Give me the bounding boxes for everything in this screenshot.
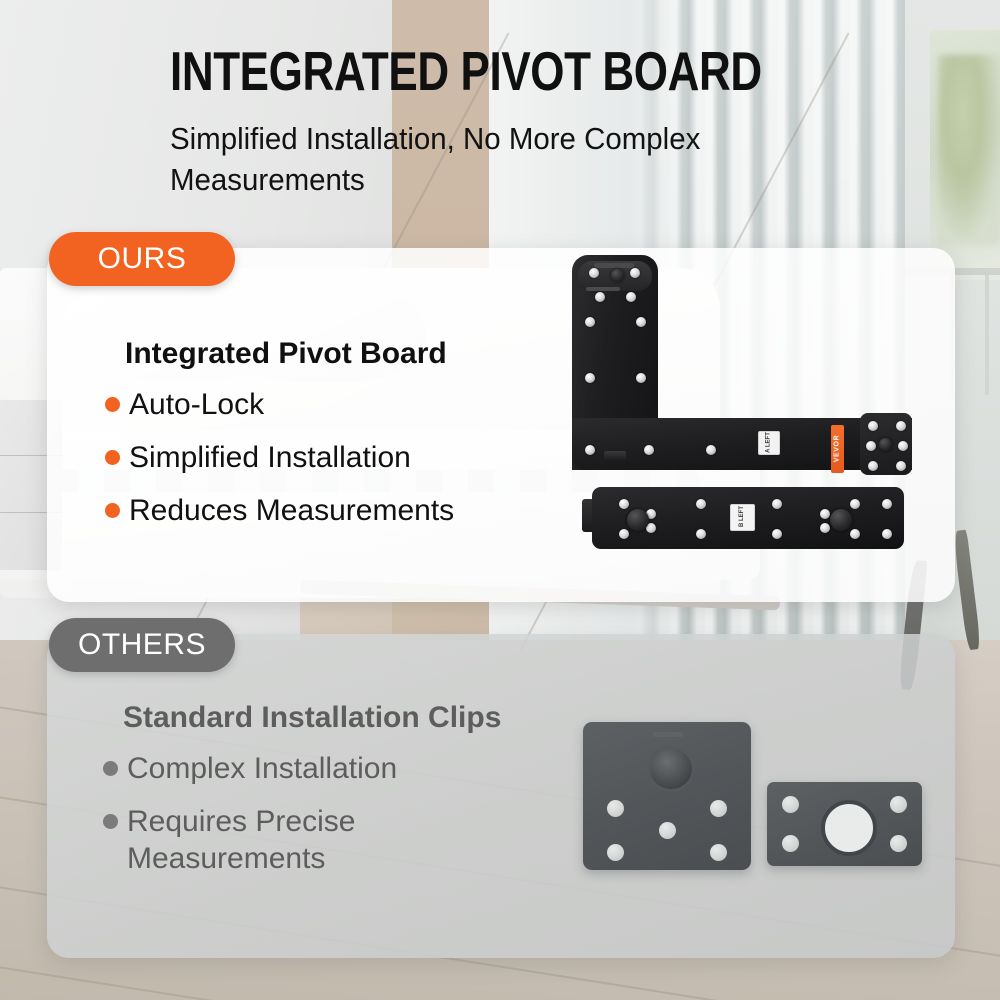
part-tag-b-label: B LEFT: [739, 504, 746, 531]
screw-hole: [896, 421, 906, 431]
screw-hole: [636, 317, 646, 327]
list-item: Auto-Lock: [105, 386, 575, 423]
screw-hole: [607, 844, 624, 861]
plate-slot: [653, 732, 683, 737]
ours-bullet-text: Simplified Installation: [129, 439, 411, 476]
pivot-knob: [627, 509, 649, 531]
screw-hole: [706, 445, 716, 455]
bg-window-foliage: [938, 55, 1000, 245]
bullet-dot-icon: [103, 761, 118, 776]
bg-window-mullion: [985, 275, 989, 395]
list-item: Complex Installation: [103, 750, 573, 787]
screw-hole: [820, 509, 830, 519]
screw-hole: [696, 529, 706, 539]
screw-hole: [772, 529, 782, 539]
screw-hole: [868, 461, 878, 471]
screw-hole: [820, 523, 830, 533]
list-item: Simplified Installation: [105, 439, 575, 476]
brand-label-sticker: VEVOR: [831, 425, 844, 473]
screw-hole: [868, 421, 878, 431]
screw-hole: [710, 800, 727, 817]
screw-hole: [626, 292, 636, 302]
screw-hole: [898, 441, 908, 451]
screw-hole: [710, 844, 727, 861]
infographic-canvas: INTEGRATED PIVOT BOARD Simplified Instal…: [0, 0, 1000, 1000]
l-bracket-clip: [604, 451, 626, 460]
screw-hole: [850, 529, 860, 539]
screw-hole: [607, 800, 624, 817]
ours-product-bar-bracket: B LEFT: [582, 487, 904, 549]
brand-label-text: VEVOR: [834, 425, 841, 473]
screw-hole: [882, 499, 892, 509]
screw-hole: [619, 529, 629, 539]
screw-hole: [585, 373, 595, 383]
plate-center-hole: [821, 800, 877, 856]
pivot-knob: [611, 269, 624, 282]
screw-hole: [630, 268, 640, 278]
list-item: Reduces Measurements: [105, 492, 575, 529]
screw-hole: [890, 796, 907, 813]
others-badge: OTHERS: [49, 618, 235, 672]
ours-badge-label: OURS: [98, 242, 187, 276]
screw-hole: [619, 499, 629, 509]
screw-hole: [659, 822, 676, 839]
screw-hole: [636, 373, 646, 383]
screw-hole: [890, 835, 907, 852]
bullet-dot-icon: [105, 397, 120, 412]
screw-hole: [882, 529, 892, 539]
others-heading: Standard Installation Clips: [123, 700, 573, 736]
screw-hole: [866, 441, 876, 451]
screw-hole: [585, 445, 595, 455]
part-tag-b: B LEFT: [730, 504, 755, 531]
screw-hole: [896, 461, 906, 471]
l-bracket-slot: [594, 263, 634, 268]
others-product-square-plate: [583, 722, 751, 870]
part-tag-a-label: A LEFT: [766, 431, 773, 455]
others-feature-list: Standard Installation Clips Complex Inst…: [103, 700, 573, 893]
screw-hole: [782, 835, 799, 852]
screw-hole: [782, 796, 799, 813]
ours-heading: Integrated Pivot Board: [125, 336, 575, 372]
screw-hole: [589, 268, 599, 278]
bullet-dot-icon: [103, 814, 118, 829]
others-bullet-text: Requires Precise Measurements: [127, 803, 377, 877]
page-title: INTEGRATED PIVOT BOARD: [170, 42, 730, 100]
ours-badge: OURS: [49, 232, 235, 286]
screw-hole: [644, 445, 654, 455]
l-bracket-slot: [586, 287, 620, 291]
others-badge-label: OTHERS: [78, 628, 206, 662]
others-product-rect-plate: [767, 782, 922, 866]
plate-knob: [647, 746, 695, 792]
screw-hole: [595, 292, 605, 302]
bullet-dot-icon: [105, 503, 120, 518]
screw-hole: [772, 499, 782, 509]
screw-hole: [850, 499, 860, 509]
pivot-knob: [830, 509, 852, 531]
ours-product-l-bracket: A LEFT VEVOR: [572, 255, 912, 470]
page-subtitle: Simplified Installation, No More Complex…: [170, 118, 835, 200]
ours-bullet-text: Reduces Measurements: [129, 492, 454, 529]
bullet-dot-icon: [105, 450, 120, 465]
screw-hole: [696, 499, 706, 509]
ours-feature-list: Integrated Pivot Board Auto-Lock Simplif…: [105, 336, 575, 545]
part-tag-a: A LEFT: [758, 431, 780, 455]
others-bullet-text: Complex Installation: [127, 750, 397, 787]
ours-bullet-text: Auto-Lock: [129, 386, 264, 423]
screw-hole: [585, 317, 595, 327]
pivot-knob: [879, 438, 892, 451]
list-item: Requires Precise Measurements: [103, 803, 573, 877]
